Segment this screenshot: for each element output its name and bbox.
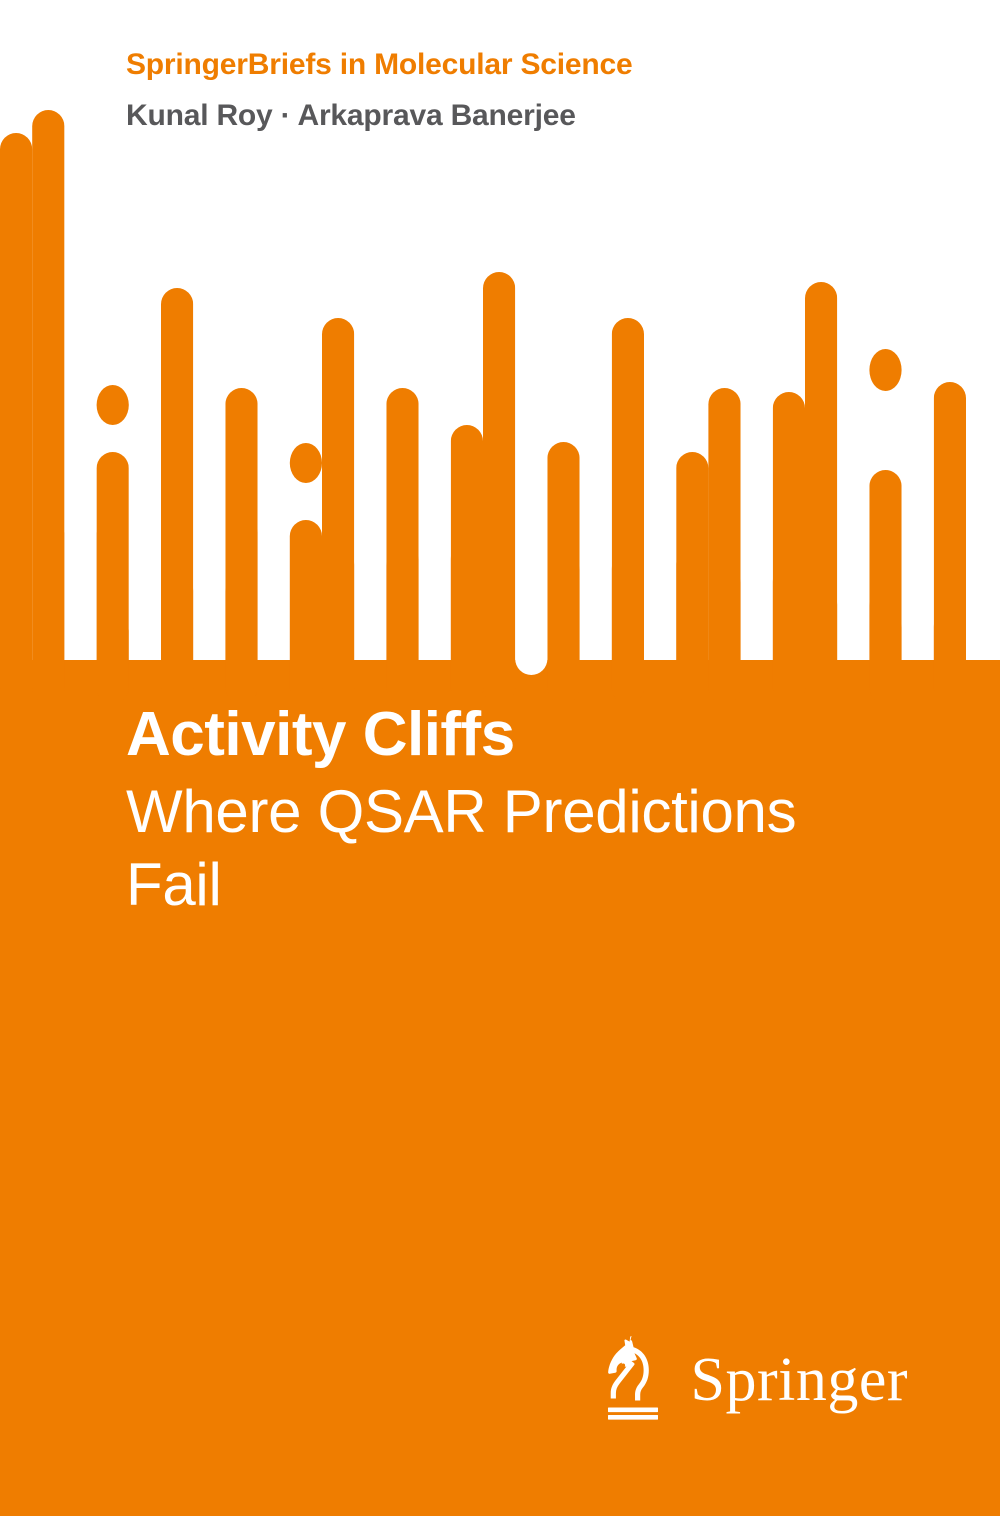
book-title: Activity Cliffs bbox=[126, 700, 926, 771]
pattern-bar-white bbox=[419, 0, 451, 572]
pattern-bar-orange bbox=[547, 442, 579, 700]
pattern-bar-orange bbox=[161, 288, 193, 700]
springer-wordmark: Springer bbox=[690, 1349, 908, 1411]
authors: Kunal Roy · Arkaprava Banerjee bbox=[126, 99, 576, 133]
title-block: Activity Cliffs Where QSAR Predictions F… bbox=[126, 700, 926, 921]
series-title: SpringerBriefs in Molecular Science bbox=[126, 48, 633, 82]
book-subtitle: Where QSAR Predictions Fail bbox=[126, 775, 866, 921]
pattern-bar-white bbox=[644, 0, 676, 578]
pattern-bar-orange bbox=[386, 388, 418, 700]
pattern-bar-orange bbox=[0, 133, 32, 700]
pattern-bar-white bbox=[837, 0, 869, 618]
pattern-bar-orange bbox=[322, 318, 354, 700]
pattern-bar-orange bbox=[290, 520, 322, 700]
pattern-bar-white bbox=[902, 0, 934, 640]
pattern-bar-white bbox=[966, 0, 998, 528]
book-cover: SpringerBriefs in Molecular Science Kuna… bbox=[0, 0, 1000, 1516]
pattern-dot bbox=[290, 443, 322, 483]
pattern-bar-white bbox=[354, 0, 386, 578]
pattern-bar-orange bbox=[451, 425, 483, 700]
pattern-bar-orange bbox=[934, 382, 966, 700]
pattern-dot bbox=[97, 385, 129, 425]
pattern-bar-white bbox=[129, 0, 161, 645]
pattern-bar-orange bbox=[225, 388, 257, 700]
pattern-dot bbox=[869, 349, 901, 391]
pattern-bar-orange bbox=[32, 110, 64, 700]
pattern-bar-orange bbox=[708, 388, 740, 700]
pattern-bar-white bbox=[193, 0, 225, 604]
pattern-bar-white bbox=[64, 0, 96, 548]
pattern-bar-orange bbox=[869, 470, 901, 700]
pattern-bar-orange bbox=[97, 452, 129, 700]
pattern-bar-orange bbox=[676, 452, 708, 700]
springer-knight-icon bbox=[600, 1333, 672, 1426]
pattern-bar-orange bbox=[805, 282, 837, 700]
pattern-bar-orange bbox=[773, 392, 805, 700]
pattern-bar-orange bbox=[612, 318, 644, 700]
pattern-bar-white bbox=[741, 0, 773, 595]
pattern-bar-orange bbox=[483, 272, 515, 700]
springer-logo: Springer bbox=[600, 1333, 908, 1426]
pattern-bar-white bbox=[580, 0, 612, 582]
